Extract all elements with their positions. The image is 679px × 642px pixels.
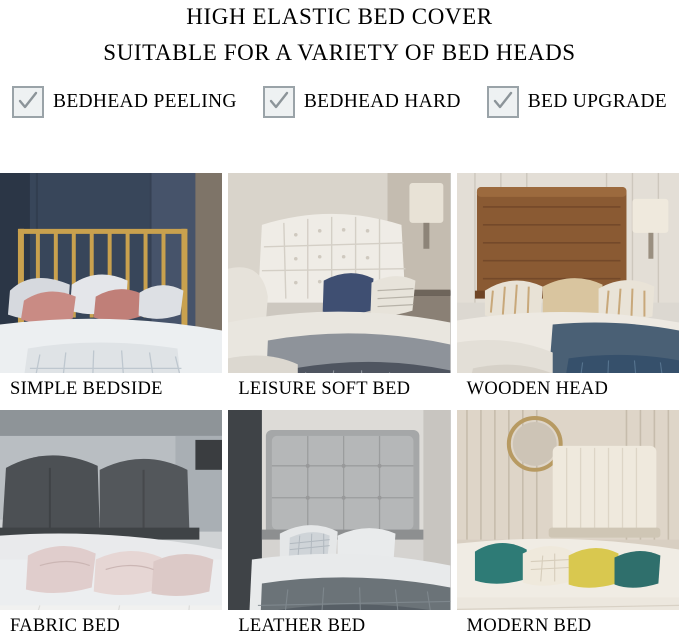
feature-item-bedhead-hard: BEDHEAD HARD	[263, 86, 461, 118]
checkbox-bedhead-hard	[263, 86, 295, 118]
checkbox-bedhead-peeling	[12, 86, 44, 118]
product-infographic: HIGH ELASTIC BED COVER SUITABLE FOR A VA…	[0, 0, 679, 642]
gallery-item-wooden-head: WOODEN HEAD	[457, 173, 679, 405]
leather-bed-photo	[228, 410, 450, 642]
wooden-head-photo	[457, 173, 679, 405]
leisure-soft-bed-photo	[228, 173, 450, 405]
feature-item-bedhead-peeling: BEDHEAD PEELING	[12, 86, 237, 118]
page-title: HIGH ELASTIC BED COVER	[0, 2, 679, 32]
gallery-caption: WOODEN HEAD	[457, 373, 679, 405]
headings-block: HIGH ELASTIC BED COVER SUITABLE FOR A VA…	[0, 0, 679, 68]
page-subtitle: SUITABLE FOR A VARIETY OF BED HEADS	[0, 38, 679, 68]
gallery-item-modern-bed: MODERN BED	[457, 410, 679, 642]
feature-label: BEDHEAD PEELING	[53, 91, 237, 113]
gallery-caption: SIMPLE BEDSIDE	[0, 373, 222, 405]
checkmark-icon	[492, 90, 514, 112]
gallery-item-leisure-soft-bed: LEISURE SOFT BED	[228, 173, 450, 405]
modern-bed-photo	[457, 410, 679, 642]
fabric-bed-photo	[0, 410, 222, 642]
gallery-caption: FABRIC BED	[0, 610, 222, 642]
simple-bedside-photo	[0, 173, 222, 405]
checkbox-bed-upgrade	[487, 86, 519, 118]
feature-item-bed-upgrade: BED UPGRADE	[487, 86, 667, 118]
gallery-item-leather-bed: LEATHER BED	[228, 410, 450, 642]
feature-list: BEDHEAD PEELING BEDHEAD HARD BED UPGRADE	[0, 86, 679, 118]
gallery-caption: MODERN BED	[457, 610, 679, 642]
photo-grid: SIMPLE BEDSIDE	[0, 173, 679, 642]
gallery-item-simple-bedside: SIMPLE BEDSIDE	[0, 173, 222, 405]
gallery-item-fabric-bed: FABRIC BED	[0, 410, 222, 642]
feature-label: BED UPGRADE	[528, 91, 667, 113]
checkmark-icon	[17, 90, 39, 112]
gallery-caption: LEISURE SOFT BED	[228, 373, 450, 405]
feature-label: BEDHEAD HARD	[304, 91, 461, 113]
gallery-caption: LEATHER BED	[228, 610, 450, 642]
checkmark-icon	[268, 90, 290, 112]
